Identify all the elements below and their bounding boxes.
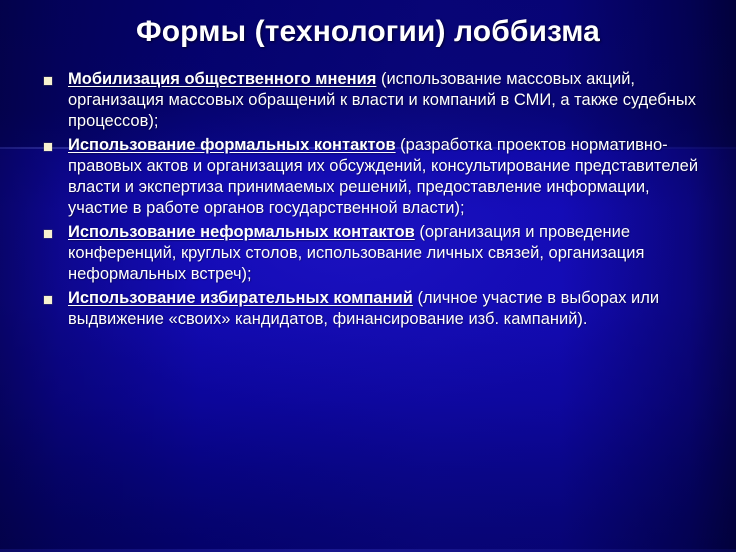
square-bullet-icon — [44, 143, 52, 151]
bullet-list: Мобилизация общественного мнения (исполь… — [38, 69, 706, 333]
list-item-lead: Использование неформальных контактов — [68, 223, 415, 241]
list-item-lead: Мобилизация общественного мнения — [68, 70, 376, 88]
list-item: Использование формальных контактов (разр… — [38, 135, 706, 219]
slide-title: Формы (технологии) лоббизма — [0, 14, 736, 50]
presentation-slide: Формы (технологии) лоббизма Мобилизация … — [0, 0, 736, 552]
square-bullet-icon — [44, 77, 52, 85]
list-item-lead: Использование избирательных компаний — [68, 289, 413, 307]
square-bullet-icon — [44, 230, 52, 238]
list-item: Использование неформальных контактов (ор… — [38, 222, 706, 285]
list-item-lead: Использование формальных контактов — [68, 136, 396, 154]
list-item: Использование избирательных компаний (ли… — [38, 288, 706, 330]
square-bullet-icon — [44, 296, 52, 304]
list-item: Мобилизация общественного мнения (исполь… — [38, 69, 706, 132]
